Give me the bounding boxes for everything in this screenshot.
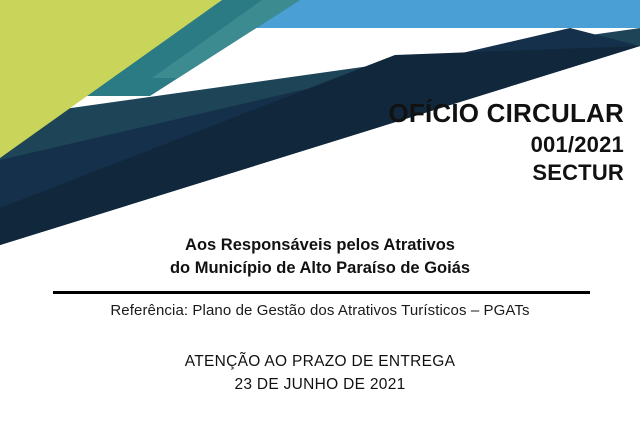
addressee-block: Aos Responsáveis pelos Atrativos do Muni…: [0, 234, 640, 281]
deadline-notice: ATENÇÃO AO PRAZO DE ENTREGA: [0, 350, 640, 373]
deadline-block: ATENÇÃO AO PRAZO DE ENTREGA 23 DE JUNHO …: [0, 350, 640, 397]
document-page: OFÍCIO CIRCULAR 001/2021 SECTUR Aos Resp…: [0, 0, 640, 426]
teal-band-highlight: [152, 0, 300, 78]
teal-band-shape: [60, 0, 300, 96]
horizontal-divider: [53, 291, 590, 294]
document-header: OFÍCIO CIRCULAR 001/2021 SECTUR: [204, 97, 624, 188]
reference-line: Referência: Plano de Gestão dos Atrativo…: [0, 302, 640, 319]
document-number: 001/2021: [204, 131, 624, 160]
document-title: OFÍCIO CIRCULAR: [204, 97, 624, 131]
document-department: SECTUR: [204, 159, 624, 188]
deadline-date: 23 DE JUNHO DE 2021: [0, 373, 640, 396]
green-wedge-shape: [0, 0, 222, 158]
addressee-line-2: do Município de Alto Paraíso de Goiás: [0, 257, 640, 280]
addressee-line-1: Aos Responsáveis pelos Atrativos: [0, 234, 640, 257]
blue-band-shape: [222, 0, 640, 28]
